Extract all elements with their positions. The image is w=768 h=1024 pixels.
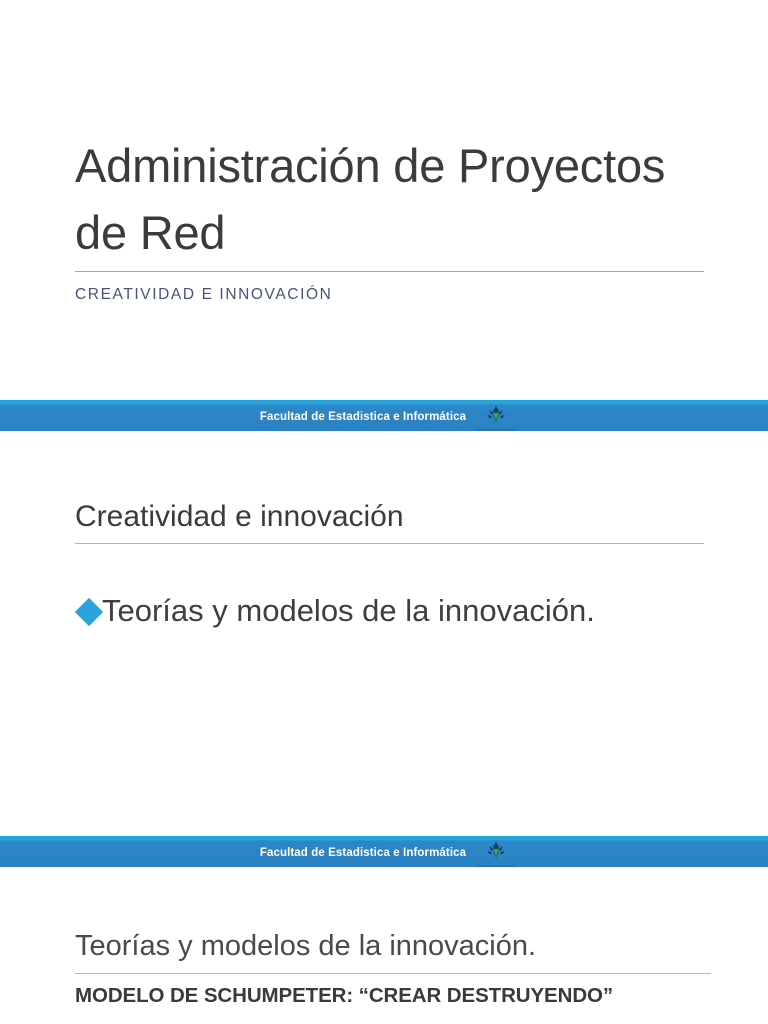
title-block: Administración de Proyectos de Red CREAT… [75, 133, 704, 304]
banner-inner: Facultad de Estadistica e Informática Un… [260, 840, 508, 866]
title-divider [75, 271, 704, 272]
slide-title: Administración de Proyectos de Red CREAT… [0, 0, 768, 400]
list-item-label: Teorías y modelos de la innovación. [102, 593, 595, 628]
slide-teorias: Teorías y modelos de la innovación. MODE… [0, 867, 768, 1024]
slide-deck: Administración de Proyectos de Red CREAT… [0, 0, 768, 1024]
faculty-banner-bottom: Facultad de Estadistica e Informática Un… [0, 836, 768, 867]
universidad-veracruzana-logo-icon: Universidad Veracruzana [484, 840, 508, 866]
diamond-bullet-icon [75, 598, 103, 626]
bottom-heading-wrap: Teorías y modelos de la innovación. MODE… [75, 929, 708, 1008]
faculty-banner-label: Facultad de Estadistica e Informática [260, 411, 466, 423]
title-subtitle: CREATIVIDAD E INNOVACIÓN [75, 286, 704, 304]
banner-inner: Facultad de Estadistica e Informática Un… [260, 404, 508, 430]
universidad-veracruzana-logo-icon: Universidad Veracruzana [484, 404, 508, 430]
slide-subheading: MODELO DE SCHUMPETER: “CREAR DESTRUYENDO… [75, 984, 708, 1008]
faculty-banner-label: Facultad de Estadistica e Informática [260, 847, 466, 859]
heading-divider [75, 543, 704, 544]
slide-creatividad: Creatividad e innovación Teorías y model… [0, 431, 768, 836]
slide-heading-wrap: Creatividad e innovación [75, 499, 704, 544]
slide-heading: Creatividad e innovación [75, 499, 704, 535]
faculty-banner-top: Facultad de Estadistica e Informática Un… [0, 400, 768, 431]
list-item: Teorías y modelos de la innovación. [79, 587, 708, 634]
slide-heading: Teorías y modelos de la innovación. [75, 929, 708, 964]
bullet-list: Teorías y modelos de la innovación. [79, 587, 708, 634]
page-title: Administración de Proyectos de Red [75, 133, 704, 266]
heading-divider [75, 973, 711, 974]
